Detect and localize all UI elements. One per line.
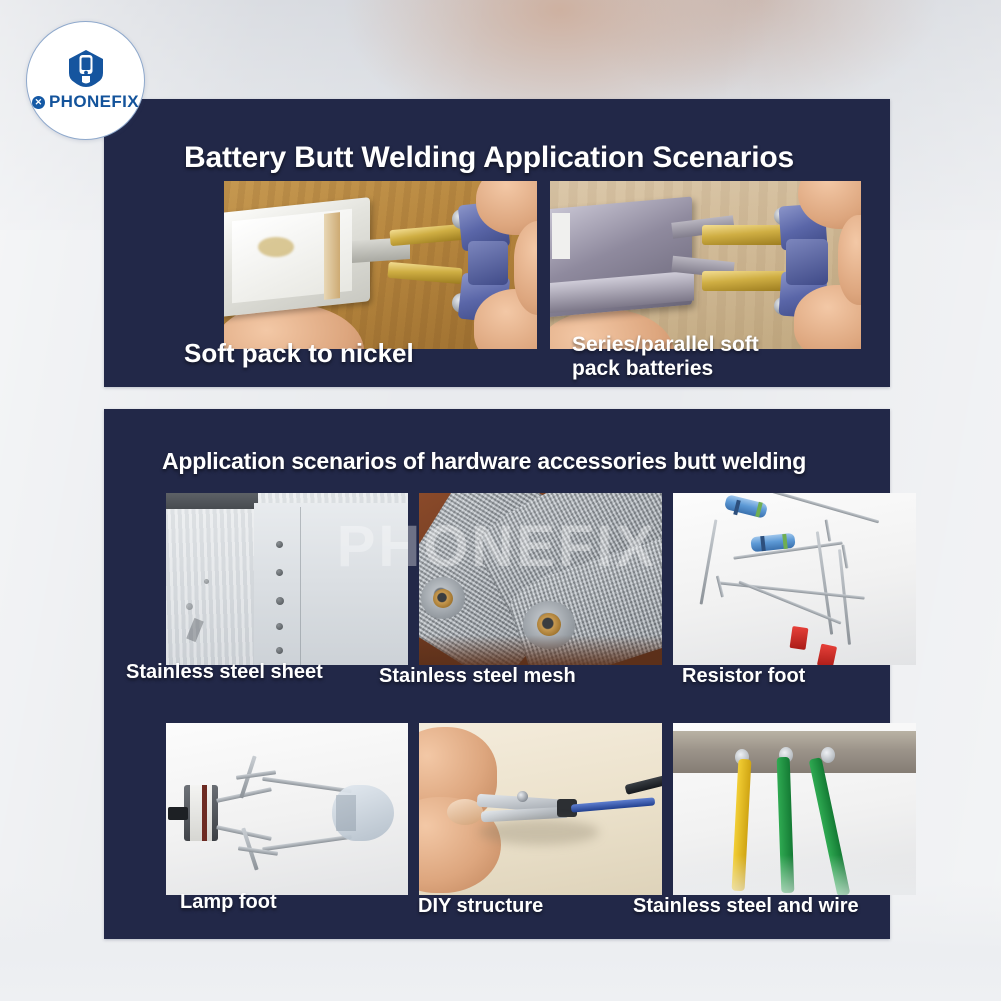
photo-stainless-steel-sheet [166, 493, 408, 665]
phonefix-hexagon-logo-icon [65, 49, 107, 89]
photo-resistor-foot [673, 493, 916, 665]
photo-stainless-steel-mesh [419, 493, 662, 665]
caption-diy-structure: DIY structure [418, 895, 543, 917]
photo-series-parallel-soft-pack [550, 181, 861, 349]
panel-battery-welding: Battery Butt Welding Application Scenari… [104, 99, 890, 387]
caption-stainless-steel-mesh: Stainless steel mesh [379, 665, 576, 687]
phonefix-badge-glyph: ✕ [32, 96, 45, 109]
caption-soft-pack-to-nickel: Soft pack to nickel [184, 339, 414, 368]
panel-title-hardware-accessories: Application scenarios of hardware access… [162, 448, 806, 475]
caption-stainless-steel-sheet: Stainless steel sheet [126, 661, 323, 683]
panel-title-battery-welding: Battery Butt Welding Application Scenari… [184, 141, 794, 175]
photo-soft-pack-to-nickel [224, 181, 537, 349]
photo-diy-structure [419, 723, 662, 895]
caption-resistor-foot: Resistor foot [682, 665, 805, 687]
caption-series-parallel-soft-pack: Series/parallel soft pack batteries [572, 333, 802, 380]
phonefix-logo-badge: ✕ PHONEFIX [26, 21, 145, 140]
caption-lamp-foot: Lamp foot [180, 891, 277, 913]
panel-hardware-accessories: Application scenarios of hardware access… [104, 409, 890, 939]
photo-stainless-steel-and-wire [673, 723, 916, 895]
photo-lamp-foot [166, 723, 408, 895]
caption-stainless-steel-and-wire: Stainless steel and wire [633, 895, 859, 917]
phonefix-wordmark: PHONEFIX [49, 92, 139, 112]
